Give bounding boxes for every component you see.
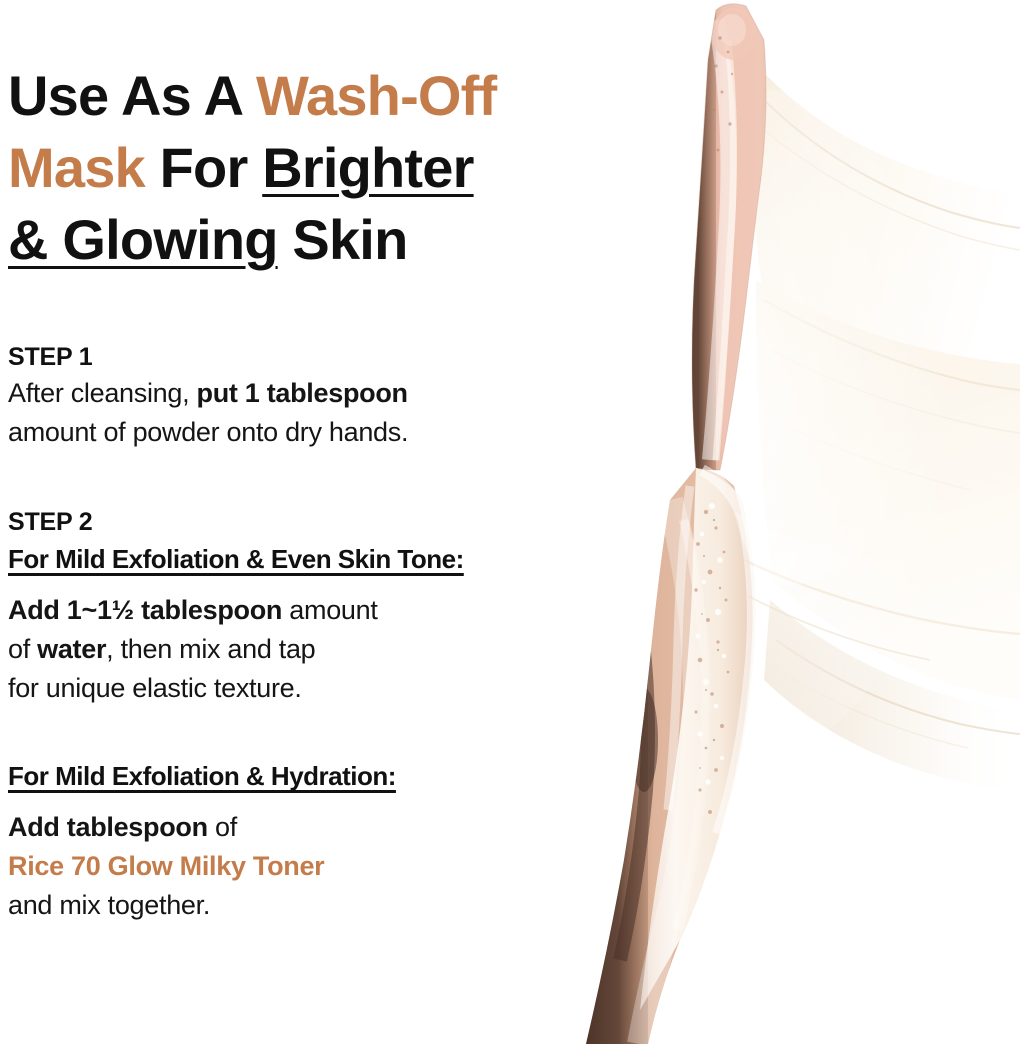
instructions-text-column: Use As A Wash-Off Mask For Brighter & Gl… (0, 0, 600, 1044)
headline-line-3: & Glowing Skin (8, 204, 608, 276)
step-1-block: STEP 1 After cleansing, put 1 tablespoon… (8, 340, 608, 452)
step-1-label: STEP 1 (8, 340, 608, 374)
step-3-product-name: Rice 70 Glow Milky Toner (8, 847, 608, 886)
step-2-line2-c: , then mix and tap (106, 634, 315, 664)
step-2-label: STEP 2 (8, 505, 608, 539)
step-2-block: STEP 2 For Mild Exfoliation & Even Skin … (8, 505, 608, 708)
product-name-toner: Rice 70 Glow Milky Toner (8, 851, 324, 881)
step-3-line1-emphasis: Add tablespoon (8, 812, 208, 842)
step-2-line2-a: of (8, 634, 37, 664)
infographic-page: Use As A Wash-Off Mask For Brighter & Gl… (0, 0, 1020, 1044)
step-2-line1-b: amount (282, 595, 377, 625)
step-3-line1-b: of (208, 812, 237, 842)
step-3-line-3: and mix together. (8, 886, 608, 925)
step-2-line-2: of water, then mix and tap (8, 630, 608, 669)
step-2-line1-emphasis: Add 1~1½ tablespoon (8, 595, 282, 625)
headline-line1-accent: Wash-Off (256, 64, 496, 127)
step-1-line-1: After cleansing, put 1 tablespoon (8, 374, 608, 413)
step-2-subheading: For Mild Exfoliation & Even Skin Tone: (8, 541, 608, 577)
headline-line3-underline: & Glowing (8, 208, 278, 271)
headline-line2-underline: Brighter (262, 136, 473, 199)
headline-line1-plain: Use As A (8, 64, 256, 127)
step-3-subheading: For Mild Exfoliation & Hydration: (8, 758, 608, 794)
headline-line-1: Use As A Wash-Off (8, 60, 608, 132)
headline-line-2: Mask For Brighter (8, 132, 608, 204)
headline-line3-plain: Skin (278, 208, 408, 271)
step-3-block: For Mild Exfoliation & Hydration: Add ta… (8, 758, 608, 925)
step-1-line-2: amount of powder onto dry hands. (8, 413, 608, 452)
headline-line2-accent: Mask (8, 136, 145, 199)
step-2-line-1: Add 1~1½ tablespoon amount (8, 591, 608, 630)
step-2-line2-emphasis: water (37, 634, 106, 664)
step-3-line-1: Add tablespoon of (8, 808, 608, 847)
step-1-line1-a: After cleansing, (8, 378, 197, 408)
page-title: Use As A Wash-Off Mask For Brighter & Gl… (8, 60, 608, 276)
step-1-line1-emphasis: put 1 tablespoon (197, 378, 408, 408)
headline-line2-plain: For (145, 136, 262, 199)
step-2-line-3: for unique elastic texture. (8, 669, 608, 708)
